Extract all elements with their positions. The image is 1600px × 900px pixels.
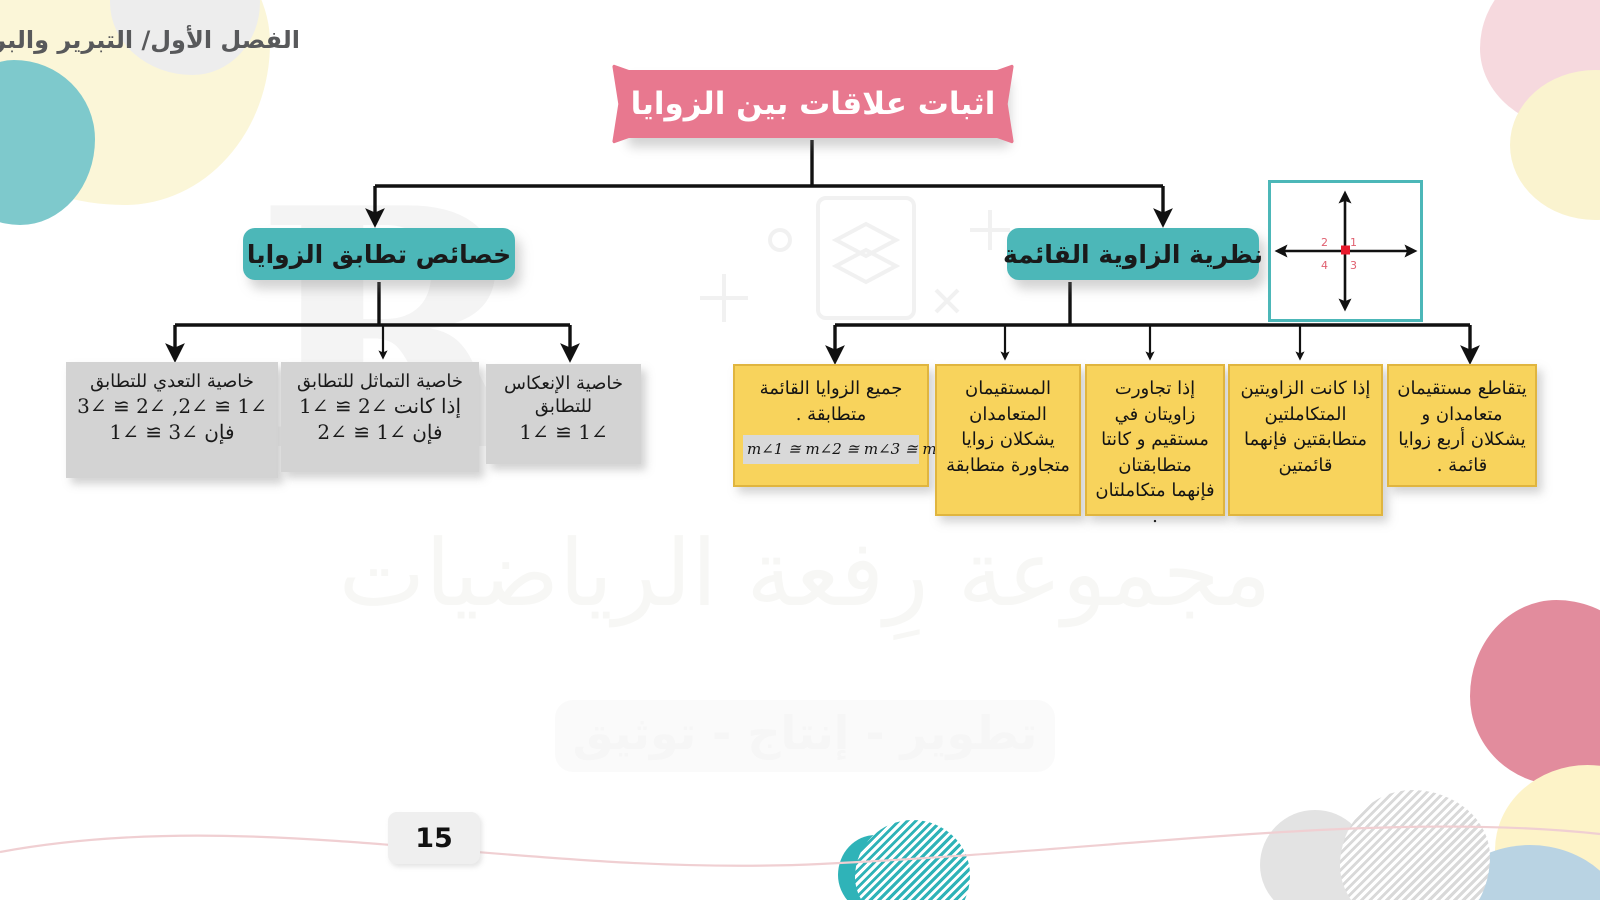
branch-right-label: نظرية الزاوية القائمة [1003, 240, 1263, 269]
page-number: 15 [388, 812, 480, 864]
leaf-text: المستقيمان المتعامدان يشكلان زوايا متجاو… [945, 376, 1071, 478]
leaf-line-3: فإن ∠3 ≅ ∠1 [76, 419, 268, 445]
svg-text:4: 4 [1321, 259, 1328, 272]
leaf-text: جميع الزوايا القائمة متطابقة . [743, 376, 919, 427]
svg-text:2: 2 [1321, 236, 1328, 249]
leaf-symmetric-property[interactable]: خاصية التماثل للتطابق إذا كانت ∠2 ≅ ∠1 ف… [281, 362, 479, 472]
leaf-line-3: ∠1 ≅ ∠1 [496, 419, 631, 445]
branch-box-right-angle-theorem[interactable]: نظرية الزاوية القائمة [1007, 228, 1259, 280]
right-angle-diagram-frame: 1 2 3 4 [1268, 180, 1423, 322]
diagram-title-text: اثبات علاقات بين الزوايا [631, 86, 996, 122]
leaf-all-right-angles-congruent[interactable]: جميع الزوايا القائمة متطابقة . m∠1 ≅ m∠2… [733, 364, 929, 487]
svg-text:1: 1 [1350, 236, 1357, 249]
leaf-reflexive-property[interactable]: خاصية الإنعكاس للتطابق ∠1 ≅ ∠1 [486, 364, 641, 464]
branch-left-label: خصائص تطابق الزوايا [247, 240, 511, 269]
leaf-line-2: ∠1 ≅ ∠2, ∠2 ≅ ∠3 [76, 393, 268, 419]
leaf-text: إذا كانت الزاويتين المتكاملتين متطابقتين… [1238, 376, 1373, 478]
leaf-title: خاصية التعدي للتطابق [76, 370, 268, 393]
leaf-title: خاصية التماثل للتطابق [291, 370, 469, 393]
leaf-perpendicular-lines-adjacent-angles[interactable]: المستقيمان المتعامدان يشكلان زوايا متجاو… [935, 364, 1081, 516]
branch-box-angle-congruence-properties[interactable]: خصائص تطابق الزوايا [243, 228, 515, 280]
svg-text:3: 3 [1350, 259, 1357, 272]
leaf-line-3: فإن ∠1 ≅ ∠2 [291, 419, 469, 445]
leaf-transitive-property[interactable]: خاصية التعدي للتطابق ∠1 ≅ ∠2, ∠2 ≅ ∠3 فإ… [66, 362, 278, 478]
leaf-supplementary-congruent-right[interactable]: إذا كانت الزاويتين المتكاملتين متطابقتين… [1228, 364, 1383, 516]
leaf-formula: m∠1 ≅ m∠2 ≅ m∠3 ≅ m∠4 [743, 435, 919, 464]
diagram-title-banner: اثبات علاقات بين الزوايا [622, 70, 1004, 138]
right-angle-diagram: 1 2 3 4 [1271, 183, 1420, 319]
slide-page: R مجموعة رِفعة الرياضيات تطوير - إنتاج -… [0, 0, 1600, 900]
leaf-text: إذا تجاورت زاويتان في مستقيم و كانتا متط… [1095, 376, 1215, 529]
leaf-perpendicular-four-right-angles[interactable]: يتقاطع مستقيمان متعامدان و يشكلان أربع ز… [1387, 364, 1537, 487]
leaf-line-2: للتطابق [496, 395, 631, 418]
leaf-line-2: إذا كانت ∠2 ≅ ∠1 [291, 393, 469, 419]
leaf-title: خاصية الإنعكاس [496, 372, 631, 395]
leaf-adjacent-congruent-supplementary[interactable]: إذا تجاورت زاويتان في مستقيم و كانتا متط… [1085, 364, 1225, 516]
leaf-text: يتقاطع مستقيمان متعامدان و يشكلان أربع ز… [1397, 376, 1527, 478]
